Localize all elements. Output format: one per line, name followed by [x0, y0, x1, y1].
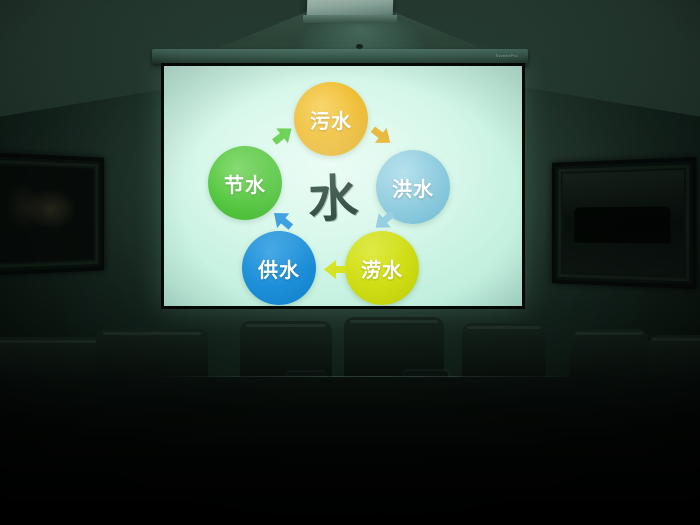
- wall-picture-right: [552, 157, 696, 289]
- slide-node-flood-label: 洪水: [392, 173, 434, 202]
- slide-node-water-supply: 供水: [242, 231, 316, 305]
- slide-node-waterlogging-label: 涝水: [361, 254, 403, 283]
- slide-node-water-conservation-label: 节水: [224, 169, 266, 198]
- slide-node-wastewater-label: 污水: [310, 105, 352, 134]
- projector-lens-housing: [303, 15, 397, 23]
- slide-node-water-supply-label: 供水: [258, 254, 300, 283]
- projection-screen-surface: 污水 洪水 涝水 供水 节水 水: [164, 66, 522, 306]
- picture-art-left: [0, 165, 94, 263]
- picture-art-right: [563, 170, 684, 276]
- projection-screen-frame: 污水 洪水 涝水 供水 节水 水: [161, 63, 525, 309]
- wall-picture-left: [0, 152, 104, 276]
- slide-node-wastewater: 污水: [294, 82, 368, 156]
- slide-node-waterlogging: 涝水: [345, 231, 419, 305]
- screen-roller-housing: ScreenPro: [152, 49, 528, 64]
- projected-slide-photo: ScreenPro 污水 洪水 涝水 供水 节水 水: [0, 0, 700, 525]
- screen-brand-label: ScreenPro: [496, 53, 519, 58]
